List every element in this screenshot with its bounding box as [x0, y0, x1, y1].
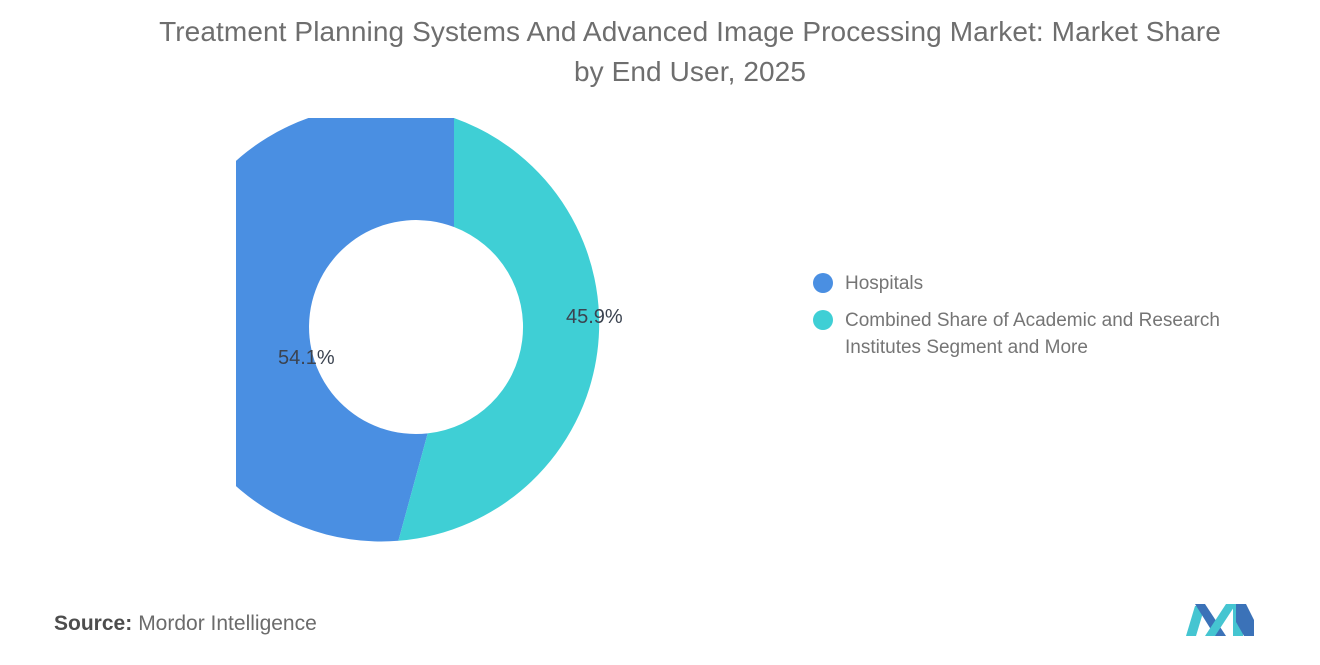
data-label-hospitals: 54.1% [278, 347, 335, 370]
chart-legend: Hospitals Combined Share of Academic and… [813, 270, 1303, 371]
legend-item-label: Combined Share of Academic and Research … [845, 307, 1295, 362]
legend-swatch-icon [813, 310, 833, 330]
source-line: Source:Mordor Intelligence [54, 612, 317, 636]
legend-swatch-icon [813, 273, 833, 293]
chart-title: Treatment Planning Systems And Advanced … [145, 12, 1235, 92]
source-label: Source: [54, 612, 132, 635]
donut-chart: 54.1% 45.9% [236, 118, 672, 554]
mordor-intelligence-logo-icon [1186, 598, 1254, 642]
data-label-academic-research: 45.9% [566, 306, 623, 329]
legend-item-academic-research[interactable]: Combined Share of Academic and Research … [813, 307, 1303, 362]
legend-item-hospitals[interactable]: Hospitals [813, 270, 1303, 298]
source-value: Mordor Intelligence [138, 612, 317, 635]
donut-chart-svg [236, 118, 672, 554]
legend-item-label: Hospitals [845, 270, 923, 298]
logo-svg [1186, 598, 1254, 642]
